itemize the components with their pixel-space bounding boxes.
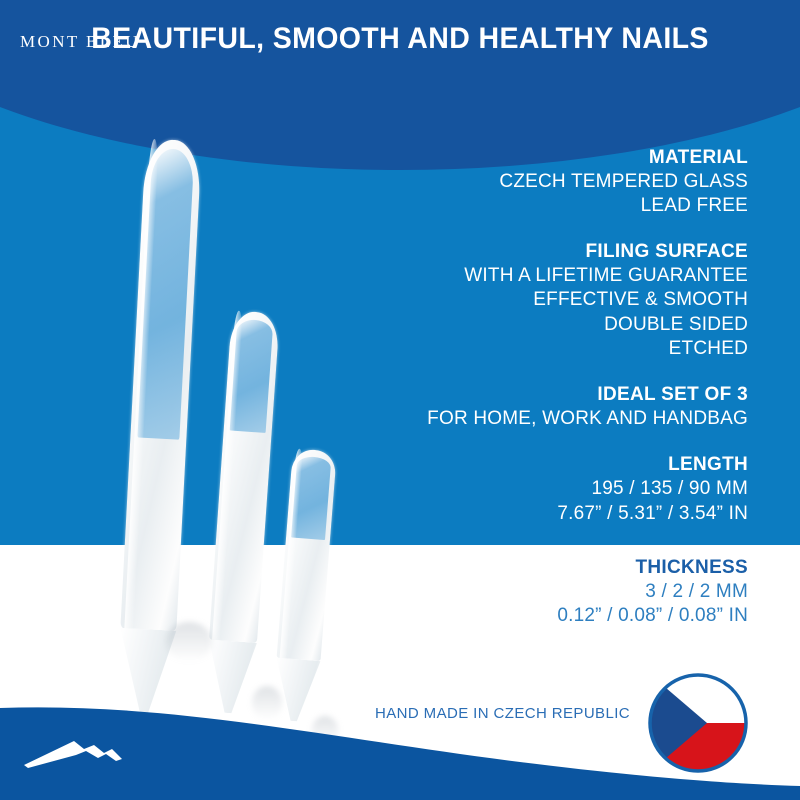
spec-list: MATERIAL CZECH TEMPERED GLASS LEAD FREE …	[328, 146, 748, 548]
spec-line: 3 / 2 / 2 MM	[328, 580, 748, 604]
spec-line: 7.67” / 5.31” / 3.54” IN	[328, 502, 748, 526]
spec-block-filing-surface: FILING SURFACE WITH A LIFETIME GUARANTEE…	[328, 240, 748, 361]
spec-heading: FILING SURFACE	[328, 240, 748, 264]
product-infographic: BEAUTIFUL, SMOOTH AND HEALTHY NAILS MATE…	[0, 0, 800, 800]
spec-line: CZECH TEMPERED GLASS	[328, 170, 748, 194]
spec-line: EFFECTIVE & SMOOTH	[328, 288, 748, 312]
spec-line: LEAD FREE	[328, 194, 748, 218]
spec-block-length: LENGTH 195 / 135 / 90 MM 7.67” / 5.31” /…	[328, 453, 748, 525]
spec-line: ETCHED	[328, 337, 748, 361]
spec-line: DOUBLE SIDED	[328, 313, 748, 337]
brand-logo	[18, 735, 198, 791]
spec-block-ideal-set: IDEAL SET OF 3 FOR HOME, WORK AND HANDBA…	[328, 383, 748, 431]
spec-block-material: MATERIAL CZECH TEMPERED GLASS LEAD FREE	[328, 146, 748, 218]
large-file-reflection	[166, 622, 212, 662]
spec-line: WITH A LIFETIME GUARANTEE	[328, 264, 748, 288]
brand-name: MONT BLEU	[20, 32, 140, 52]
spec-heading: LENGTH	[328, 453, 748, 477]
spec-heading: THICKNESS	[328, 556, 748, 580]
spec-line: FOR HOME, WORK AND HANDBAG	[328, 407, 748, 431]
spec-heading: IDEAL SET OF 3	[328, 383, 748, 407]
spec-heading: MATERIAL	[328, 146, 748, 170]
mountain-icon	[24, 741, 122, 768]
spec-line: 0.12” / 0.08” / 0.08” IN	[328, 604, 748, 628]
spec-block-thickness: THICKNESS 3 / 2 / 2 MM 0.12” / 0.08” / 0…	[328, 556, 748, 650]
spec-line: 195 / 135 / 90 MM	[328, 477, 748, 501]
